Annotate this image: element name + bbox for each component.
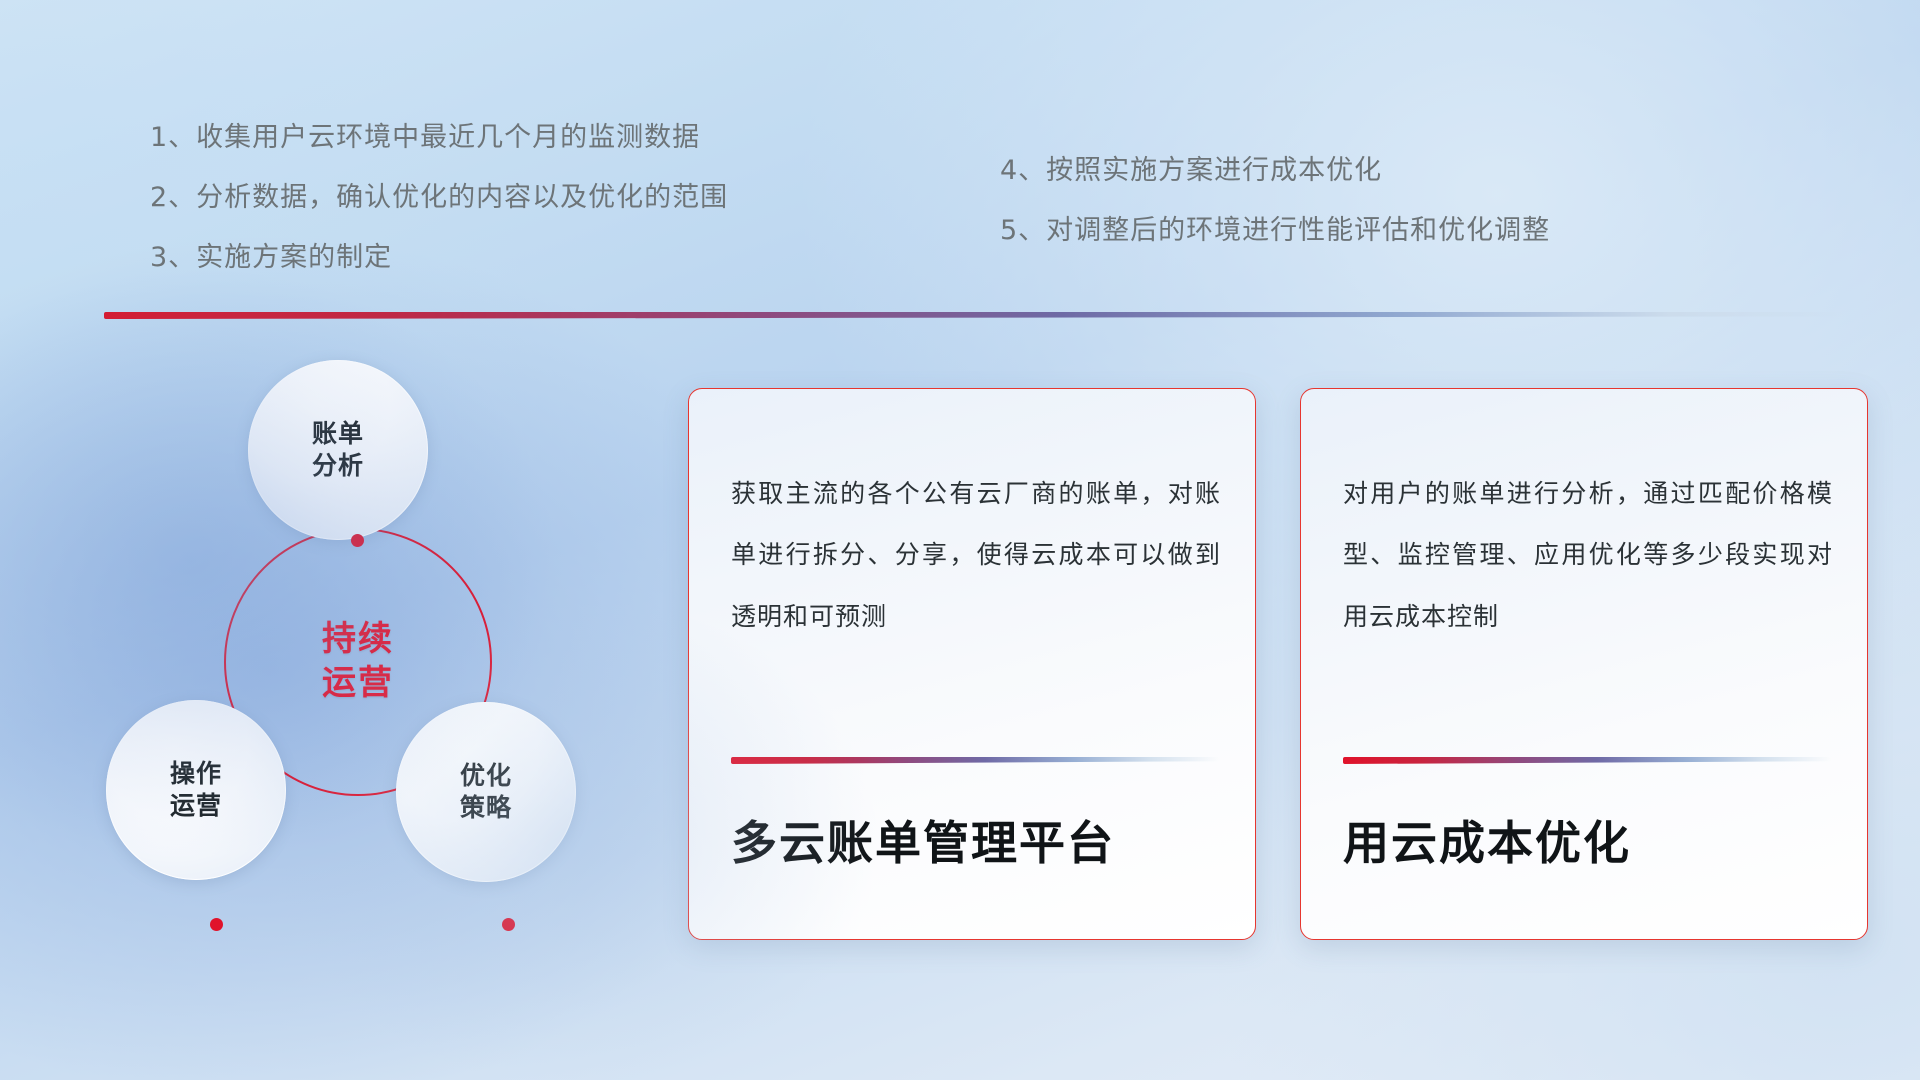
connector-dot-left bbox=[210, 918, 223, 931]
bubble-label-line2: 运营 bbox=[170, 790, 222, 823]
bubble-bill-analysis[interactable]: 账单 分析 bbox=[248, 360, 428, 540]
section-divider bbox=[104, 312, 1844, 319]
card-accent-rule bbox=[731, 757, 1219, 764]
card-multi-cloud-billing[interactable]: 获取主流的各个公有云厂商的账单，对账单进行拆分、分享，使得云成本可以做到透明和可… bbox=[688, 388, 1256, 940]
connector-dot-right bbox=[502, 918, 515, 931]
step-item-2: 2、分析数据，确认优化的内容以及优化的范围 bbox=[150, 168, 728, 228]
center-label-line1: 持续 bbox=[322, 618, 394, 662]
continuous-operation-diagram: 持续 运营 账单 分析 操作 运营 优化 策略 bbox=[96, 350, 616, 950]
steps-column-right: 4、按照实施方案进行成本优化 5、对调整后的环境进行性能评估和优化调整 bbox=[1000, 141, 1550, 261]
bubble-label-line2: 分析 bbox=[312, 450, 364, 483]
steps-column-left: 1、收集用户云环境中最近几个月的监测数据 2、分析数据，确认优化的内容以及优化的… bbox=[150, 108, 728, 288]
card-cloud-cost-optimization[interactable]: 对用户的账单进行分析，通过匹配价格模型、监控管理、应用优化等多少段实现对用云成本… bbox=[1300, 388, 1868, 940]
bubble-label-line1: 账单 bbox=[312, 418, 364, 451]
center-label-line2: 运营 bbox=[322, 662, 394, 706]
slide-canvas: 1、收集用户云环境中最近几个月的监测数据 2、分析数据，确认优化的内容以及优化的… bbox=[0, 0, 1920, 1080]
bubble-label-line2: 策略 bbox=[460, 792, 512, 825]
step-item-1: 1、收集用户云环境中最近几个月的监测数据 bbox=[150, 108, 728, 168]
step-item-4: 4、按照实施方案进行成本优化 bbox=[1000, 141, 1550, 201]
card-title: 用云成本优化 bbox=[1343, 807, 1837, 873]
card-body-text: 对用户的账单进行分析，通过匹配价格模型、监控管理、应用优化等多少段实现对用云成本… bbox=[1343, 463, 1833, 647]
bubble-label-line1: 优化 bbox=[460, 760, 512, 793]
connector-dot-top bbox=[351, 534, 364, 547]
card-title: 多云账单管理平台 bbox=[731, 807, 1225, 873]
bubble-operations[interactable]: 操作 运营 bbox=[106, 700, 286, 880]
card-body-text: 获取主流的各个公有云厂商的账单，对账单进行拆分、分享，使得云成本可以做到透明和可… bbox=[731, 463, 1221, 647]
bubble-label-line1: 操作 bbox=[170, 758, 222, 791]
steps-list: 1、收集用户云环境中最近几个月的监测数据 2、分析数据，确认优化的内容以及优化的… bbox=[0, 108, 1920, 278]
step-item-5: 5、对调整后的环境进行性能评估和优化调整 bbox=[1000, 201, 1550, 261]
bubble-optimization-strategy[interactable]: 优化 策略 bbox=[396, 702, 576, 882]
card-accent-rule bbox=[1343, 757, 1831, 764]
step-item-3: 3、实施方案的制定 bbox=[150, 228, 728, 288]
